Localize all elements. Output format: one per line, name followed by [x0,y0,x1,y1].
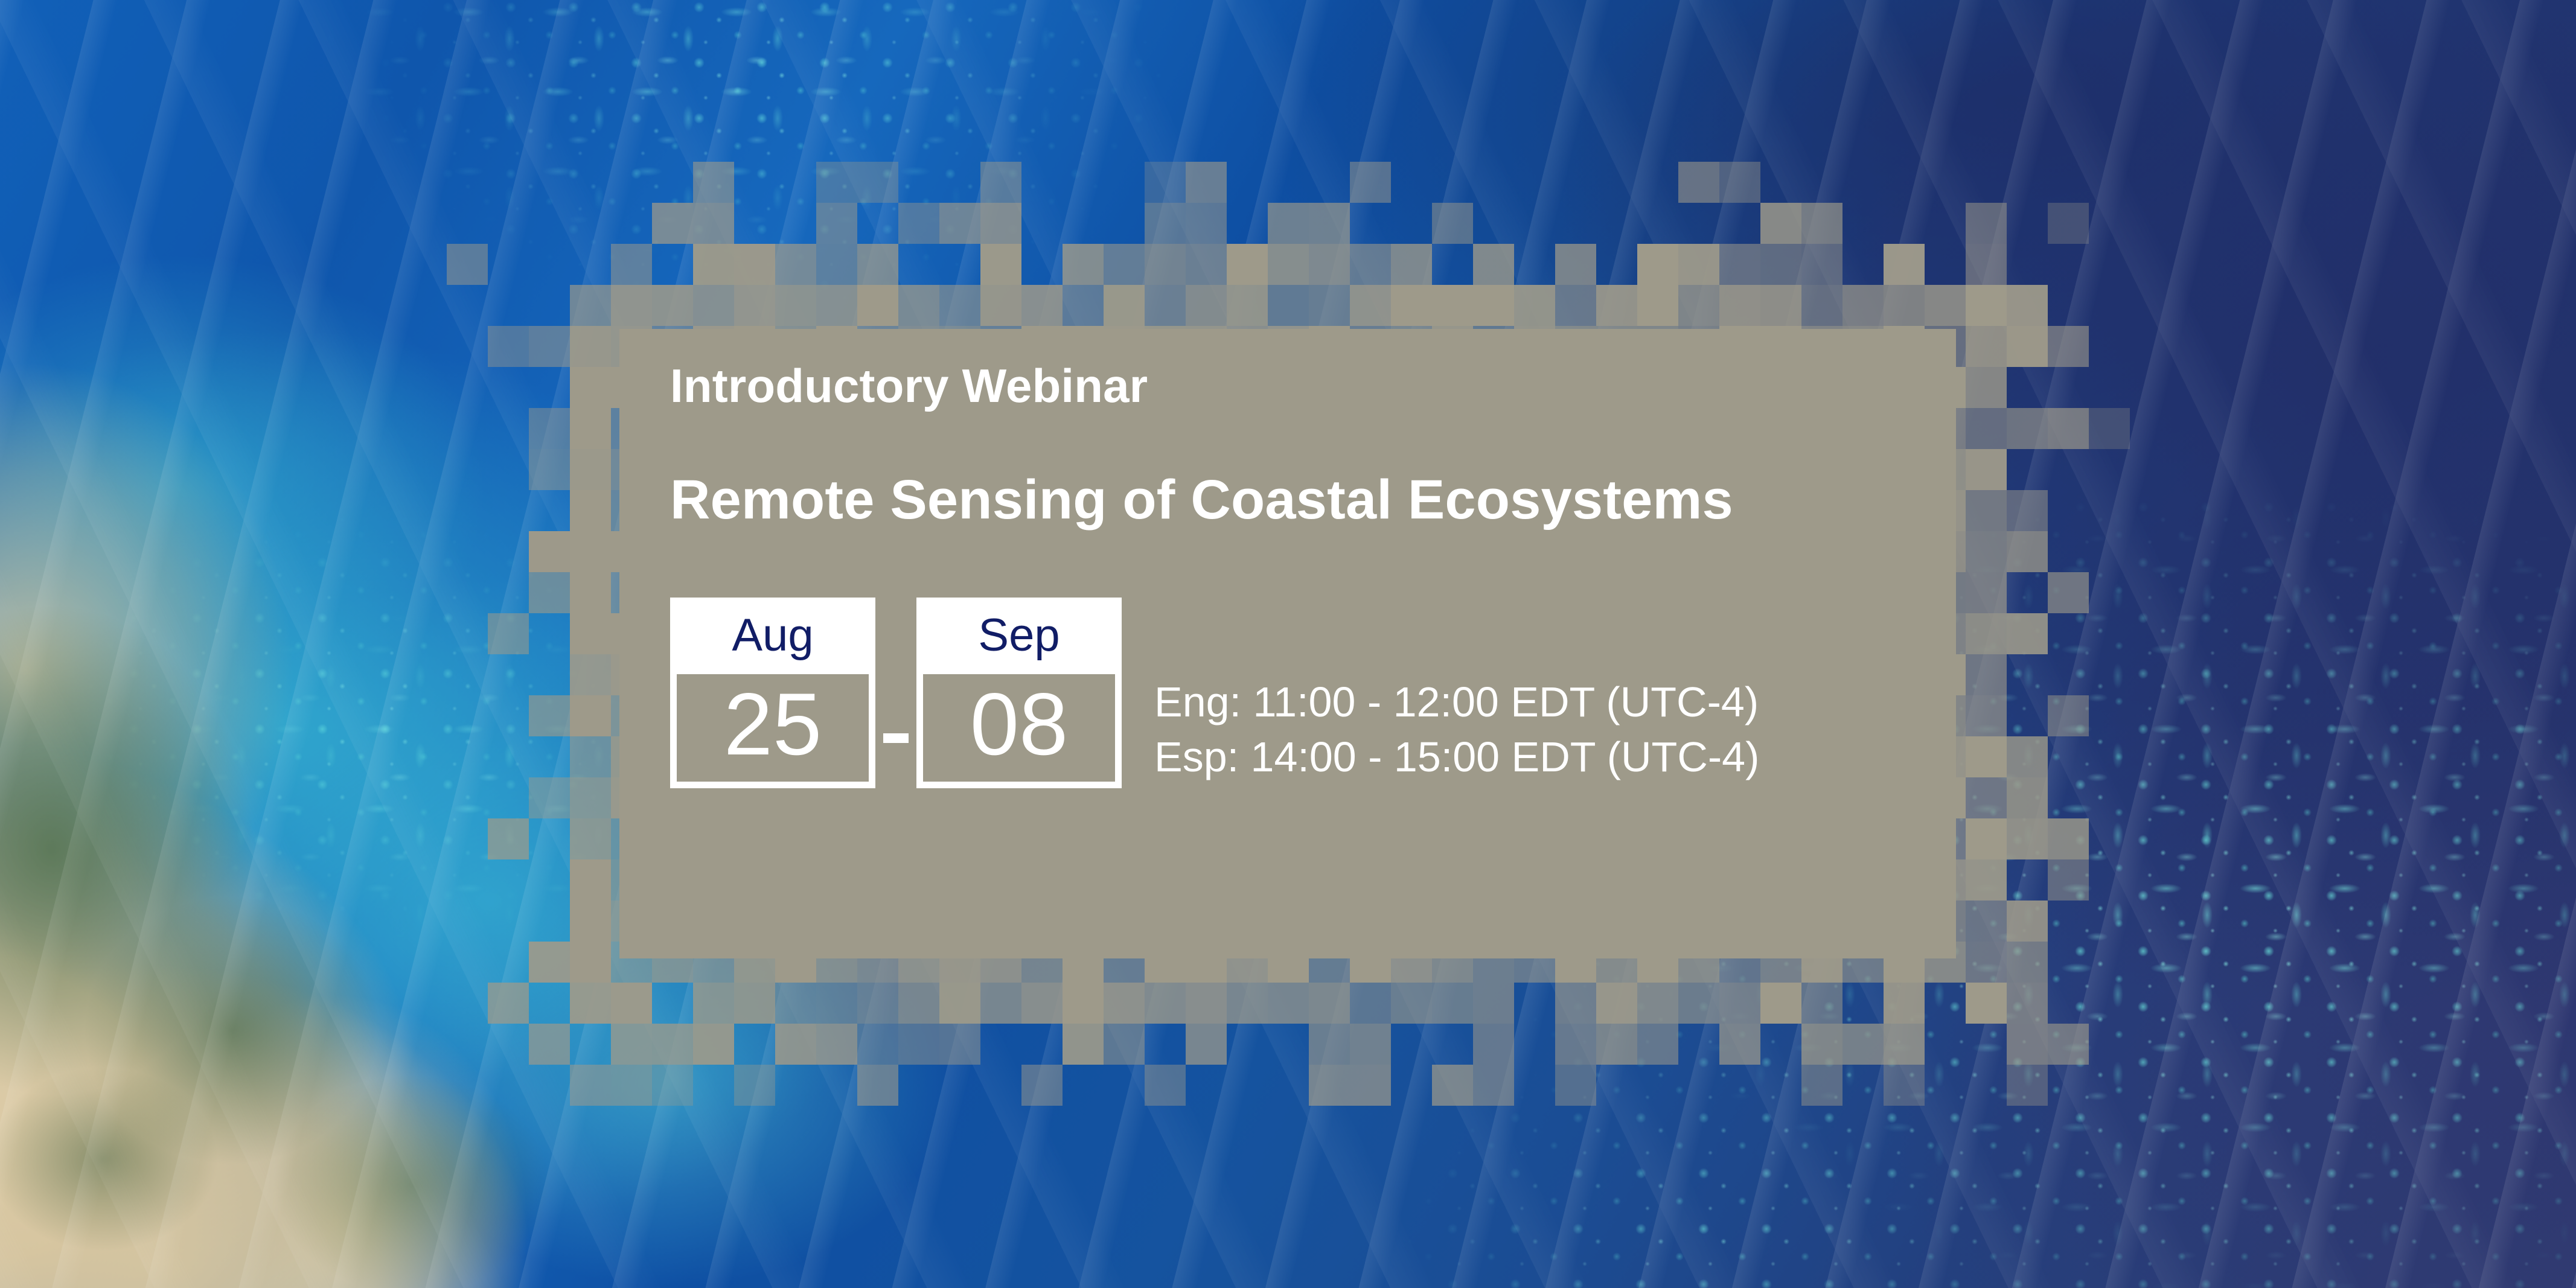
session-time-english: Eng: 11:00 - 12:00 EDT (UTC-4) [1154,675,1759,730]
page-title: Remote Sensing of Coastal Ecosystems [670,472,1932,528]
end-date-card: Sep 08 [916,598,1122,788]
session-times: Eng: 11:00 - 12:00 EDT (UTC-4) Esp: 14:0… [1154,598,1759,785]
end-date-month: Sep [923,604,1115,674]
banner-content: Introductory Webinar Remote Sensing of C… [670,362,1932,788]
start-date-card: Aug 25 [670,598,875,788]
session-time-spanish: Esp: 14:00 - 15:00 EDT (UTC-4) [1154,730,1759,785]
date-range-separator [875,598,916,788]
webinar-banner: Introductory Webinar Remote Sensing of C… [0,0,2576,1288]
start-date-month: Aug [677,604,869,674]
start-date-day: 25 [677,674,869,782]
date-range: Aug 25 Sep 08 Eng: 11:00 - 12:00 EDT (UT… [670,598,1932,788]
kicker-text: Introductory Webinar [670,362,1932,409]
end-date-day: 08 [923,674,1115,782]
dash-icon [883,733,909,743]
